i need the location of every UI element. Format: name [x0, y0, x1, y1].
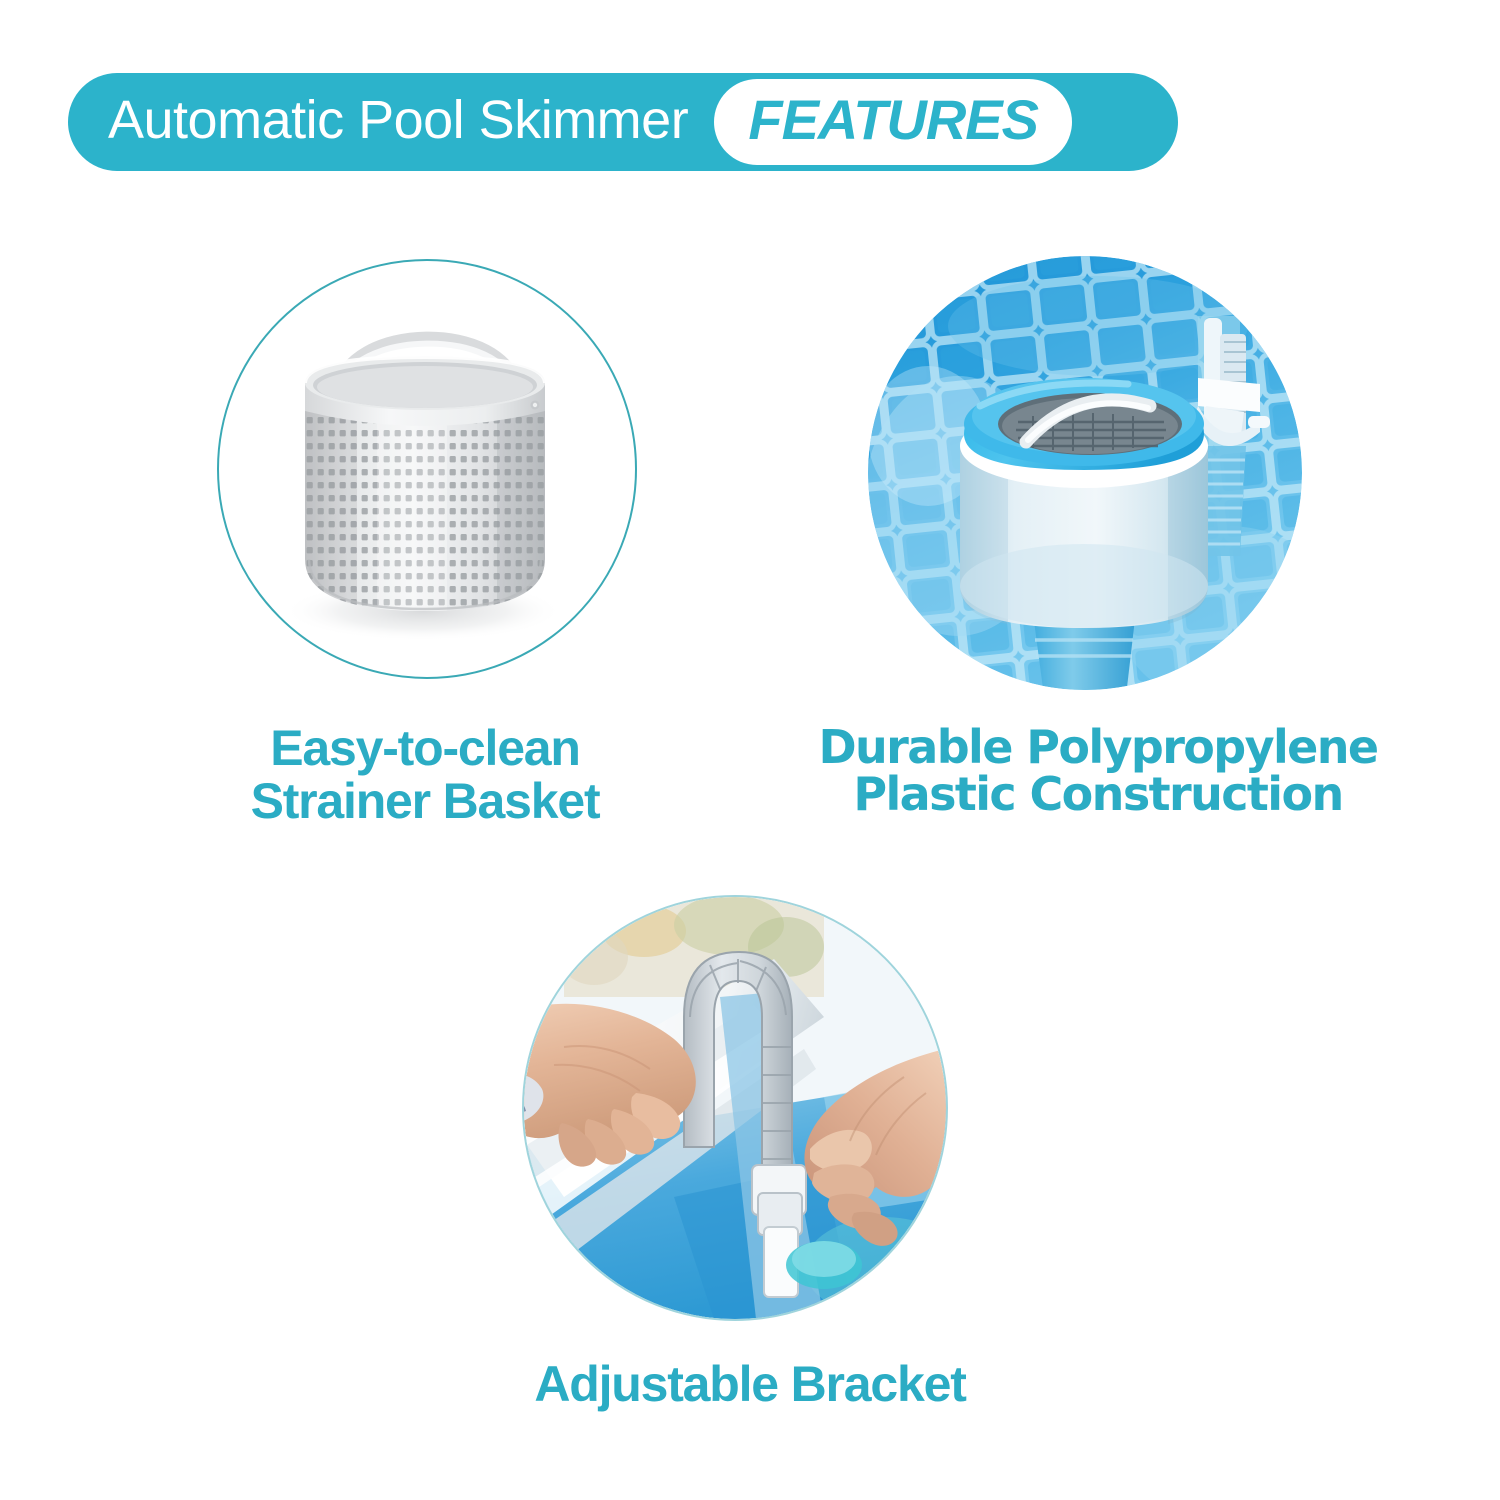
features-badge: FEATURES — [714, 79, 1072, 165]
header-banner: Automatic Pool Skimmer FEATURES — [68, 73, 1178, 171]
feature-caption-strainer-basket: Easy-to-clean Strainer Basket — [183, 722, 667, 828]
page-title: Automatic Pool Skimmer — [108, 93, 688, 151]
feature-caption-polypropylene: Durable Polypropylene Plastic Constructi… — [818, 724, 1378, 818]
adjustable-bracket-photo-illustration — [524, 897, 946, 1319]
features-badge-label: FEATURES — [748, 92, 1038, 153]
feature-image-circle-polypropylene — [868, 256, 1302, 690]
feature-image-circle-adjustable-bracket — [522, 895, 948, 1321]
feature-image-circle-strainer-basket — [217, 259, 637, 679]
pool-skimmer-photo-illustration — [868, 256, 1302, 690]
feature-caption-adjustable-bracket: Adjustable Bracket — [435, 1358, 1065, 1411]
